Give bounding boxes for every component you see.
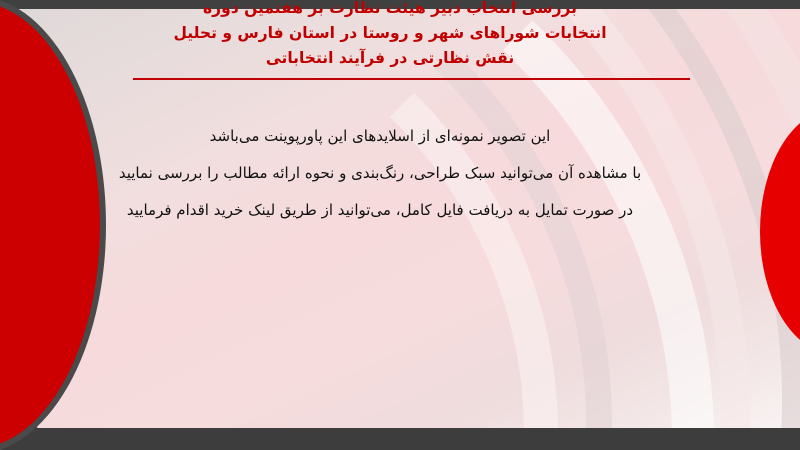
slide-title: بررسی انتخاب دبیر هیئت نظارت بر هفتمین د… (90, 0, 690, 71)
title-underline-rule (133, 78, 690, 80)
slide-text-content: بررسی انتخاب دبیر هیئت نظارت بر هفتمین د… (0, 0, 800, 450)
slide-body-line-2: با مشاهده آن می‌توانید سبک طراحی، رنگ‌بن… (80, 155, 680, 192)
slide-title-line-3: نقش نظارتی در فرآیند انتخاباتی (90, 46, 690, 71)
slide-title-line-2: انتخابات شوراهای شهر و روستا در استان فا… (90, 21, 690, 46)
slide-body-line-1: این تصویر نمونه‌ای از اسلایدهای این پاور… (80, 118, 680, 155)
slide-body-line-3: در صورت تمایل به دریافت فایل کامل، می‌تو… (80, 192, 680, 229)
slide-title-line-1: بررسی انتخاب دبیر هیئت نظارت بر هفتمین د… (90, 0, 690, 21)
slide-body-text: این تصویر نمونه‌ای از اسلایدهای این پاور… (80, 118, 680, 229)
presentation-slide: بررسی انتخاب دبیر هیئت نظارت بر هفتمین د… (0, 0, 800, 450)
